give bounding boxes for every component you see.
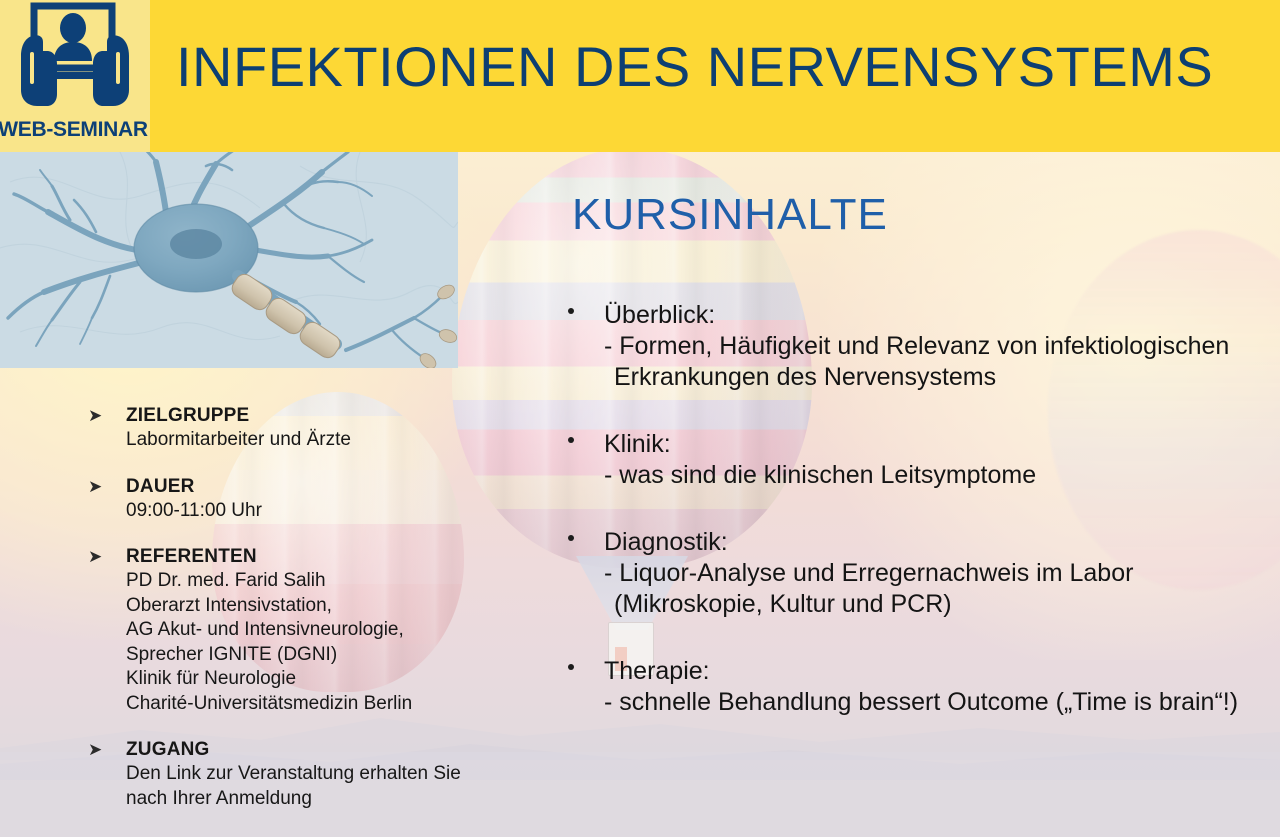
arrow-bullet-icon: ➤ bbox=[88, 739, 106, 761]
list-item-therapie: Therapie: - schnelle Behandlung bessert … bbox=[568, 656, 1280, 718]
header-band: WEB-SEMINAR INFEKTIONEN DES NERVENSYSTEM… bbox=[0, 0, 1280, 152]
zielgruppe-heading: ZIELGRUPPE bbox=[126, 404, 518, 428]
list-item-zielgruppe: ➤ ZIELGRUPPE Labormitarbeiter und Ärzte bbox=[88, 404, 518, 453]
list-item-zugang: ➤ ZUGANG Den Link zur Veranstaltung erha… bbox=[88, 738, 518, 811]
zugang-line-1: Den Link zur Veranstaltung erhalten Sie bbox=[126, 762, 518, 787]
course-info-list: ➤ ZIELGRUPPE Labormitarbeiter und Ärzte … bbox=[88, 404, 518, 833]
referenten-line-3: AG Akut- und Intensivneurologie, bbox=[126, 618, 518, 643]
person-in-screen-held-by-hands-icon bbox=[10, 2, 140, 120]
referenten-line-5: Klinik für Neurologie bbox=[126, 667, 518, 692]
diagnostik-line-2: (Mikroskopie, Kultur und PCR) bbox=[614, 589, 1280, 620]
referenten-line-2: Oberarzt Intensivstation, bbox=[126, 594, 518, 619]
list-item-dauer: ➤ DAUER 09:00-11:00 Uhr bbox=[88, 475, 518, 524]
zielgruppe-line-1: Labormitarbeiter und Ärzte bbox=[126, 428, 518, 453]
list-item-ueberblick: Überblick: - Formen, Häufigkeit und Rele… bbox=[568, 300, 1280, 393]
ueberblick-line-1: - Formen, Häufigkeit und Relevanz von in… bbox=[604, 331, 1280, 362]
diagnostik-line-1: - Liquor-Analyse und Erregernachweis im … bbox=[604, 558, 1280, 589]
bullet-dot-icon bbox=[568, 664, 574, 670]
web-seminar-logo: WEB-SEMINAR bbox=[0, 0, 150, 152]
page-title: INFEKTIONEN DES NERVENSYSTEMS bbox=[176, 34, 1213, 99]
referenten-line-4: Sprecher IGNITE (DGNI) bbox=[126, 643, 518, 668]
referenten-line-6: Charité-Universitätsmedizin Berlin bbox=[126, 692, 518, 717]
list-item-diagnostik: Diagnostik: - Liquor-Analyse und Erreger… bbox=[568, 527, 1280, 620]
dauer-heading: DAUER bbox=[126, 475, 518, 499]
klinik-line-1: - was sind die klinischen Leitsymptome bbox=[604, 460, 1280, 491]
list-item-klinik: Klinik: - was sind die klinischen Leitsy… bbox=[568, 429, 1280, 491]
kursinhalte-list: Überblick: - Formen, Häufigkeit und Rele… bbox=[568, 300, 1280, 754]
kursinhalte-heading: KURSINHALTE bbox=[572, 190, 888, 240]
list-item-referenten: ➤ REFERENTEN PD Dr. med. Farid Salih Obe… bbox=[88, 545, 518, 716]
referenten-line-1: PD Dr. med. Farid Salih bbox=[126, 569, 518, 594]
ueberblick-line-2: Erkrankungen des Nervensystems bbox=[614, 362, 1280, 393]
zugang-line-2: nach Ihrer Anmeldung bbox=[126, 787, 518, 812]
therapie-heading: Therapie: bbox=[604, 656, 1280, 687]
logo-wordmark: WEB-SEMINAR bbox=[0, 118, 150, 142]
klinik-heading: Klinik: bbox=[604, 429, 1280, 460]
bullet-dot-icon bbox=[568, 308, 574, 314]
zugang-heading: ZUGANG bbox=[126, 738, 518, 762]
diagnostik-heading: Diagnostik: bbox=[604, 527, 1280, 558]
bullet-dot-icon bbox=[568, 535, 574, 541]
webinar-slide: WEB-SEMINAR INFEKTIONEN DES NERVENSYSTEM… bbox=[0, 0, 1280, 837]
bullet-dot-icon bbox=[568, 437, 574, 443]
ueberblick-heading: Überblick: bbox=[604, 300, 1280, 331]
arrow-bullet-icon: ➤ bbox=[88, 546, 106, 568]
referenten-heading: REFERENTEN bbox=[126, 545, 518, 569]
therapie-line-1: - schnelle Behandlung bessert Outcome („… bbox=[604, 687, 1280, 718]
arrow-bullet-icon: ➤ bbox=[88, 476, 106, 498]
neuron-illustration-image bbox=[0, 152, 458, 368]
arrow-bullet-icon: ➤ bbox=[88, 405, 106, 427]
dauer-line-1: 09:00-11:00 Uhr bbox=[126, 499, 518, 524]
